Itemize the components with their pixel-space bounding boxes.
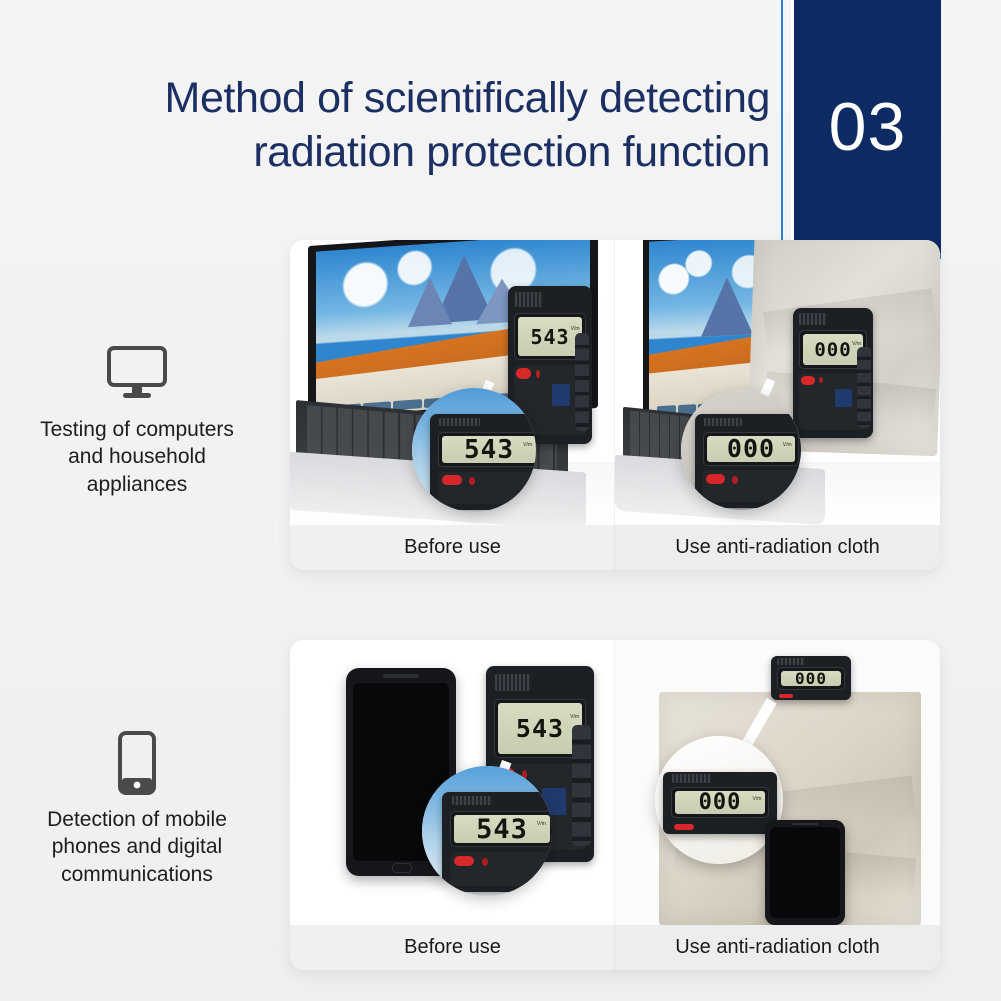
caption-computer-cloth: Use anti-radiation cloth [615, 525, 940, 570]
meter-reading: 000 [814, 339, 851, 361]
panel-mobile-cloth: 000 000 V/m [615, 640, 940, 970]
caption-computer-before: Before use [290, 525, 615, 570]
panel-computer-cloth: 000 V/m [615, 240, 940, 570]
photo-phone-meter: 543 V/m [290, 640, 615, 925]
magnifier-reading: 543 [464, 435, 514, 465]
photo-phone-cloth-meter: 000 000 V/m [615, 640, 940, 925]
magnifier-unit: V/m [523, 442, 532, 448]
magnifier-bubble: 000 V/m [655, 736, 783, 864]
magnifier-unit: V/m [537, 821, 546, 827]
photo-laptop-meter: 543 V/m [290, 240, 615, 525]
photo-laptop-cloth-meter: 000 V/m [615, 240, 940, 525]
computer-test-row: 543 V/m [290, 240, 940, 570]
mobile-test-card: 543 V/m [290, 640, 940, 970]
sidebar-item-mobile-label: Detection of mobile phones and digital c… [12, 806, 262, 888]
section-number-text: 03 [829, 93, 907, 161]
sidebar-item-computer: Testing of computers and household appli… [12, 340, 262, 498]
magnifier-bubble: 543 V/m [422, 766, 552, 896]
emf-meter-device: 000 [771, 656, 851, 700]
poster-background: Method of scientifically detecting radia… [0, 0, 1001, 1001]
smartphone-device [765, 820, 845, 925]
computer-test-card: 543 V/m [290, 240, 940, 570]
magnifier-bubble: 543 V/m [412, 388, 536, 512]
meter-unit: V/m [852, 341, 861, 347]
emf-meter-device: 000 V/m [793, 308, 873, 438]
panel-mobile-before: 543 V/m [290, 640, 615, 970]
mobile-test-row: 543 V/m [290, 640, 940, 970]
meter-unit: V/m [571, 326, 580, 332]
smartphone-icon [12, 730, 262, 796]
meter-reading: 543 [530, 325, 569, 349]
magnifier-unit: V/m [783, 442, 792, 448]
magnifier-reading: 543 [476, 814, 528, 845]
magnifier-bubble: 000 V/m [681, 390, 801, 510]
sidebar-item-mobile: Detection of mobile phones and digital c… [12, 730, 262, 888]
meter-reading: 543 [516, 714, 564, 743]
monitor-icon [12, 340, 262, 406]
sidebar-item-computer-label: Testing of computers and household appli… [12, 416, 262, 498]
magnifier-reading: 000 [727, 434, 775, 463]
page-title: Method of scientifically detecting radia… [30, 72, 770, 180]
caption-mobile-before: Before use [290, 925, 615, 970]
section-number-badge: 03 [794, 0, 941, 253]
caption-mobile-cloth: Use anti-radiation cloth [615, 925, 940, 970]
meter-reading: 000 [795, 669, 827, 688]
magnifier-reading: 000 [699, 790, 742, 815]
meter-unit: V/m [570, 714, 579, 720]
magnifier-unit: V/m [753, 796, 762, 802]
panel-computer-before: 543 V/m [290, 240, 615, 570]
